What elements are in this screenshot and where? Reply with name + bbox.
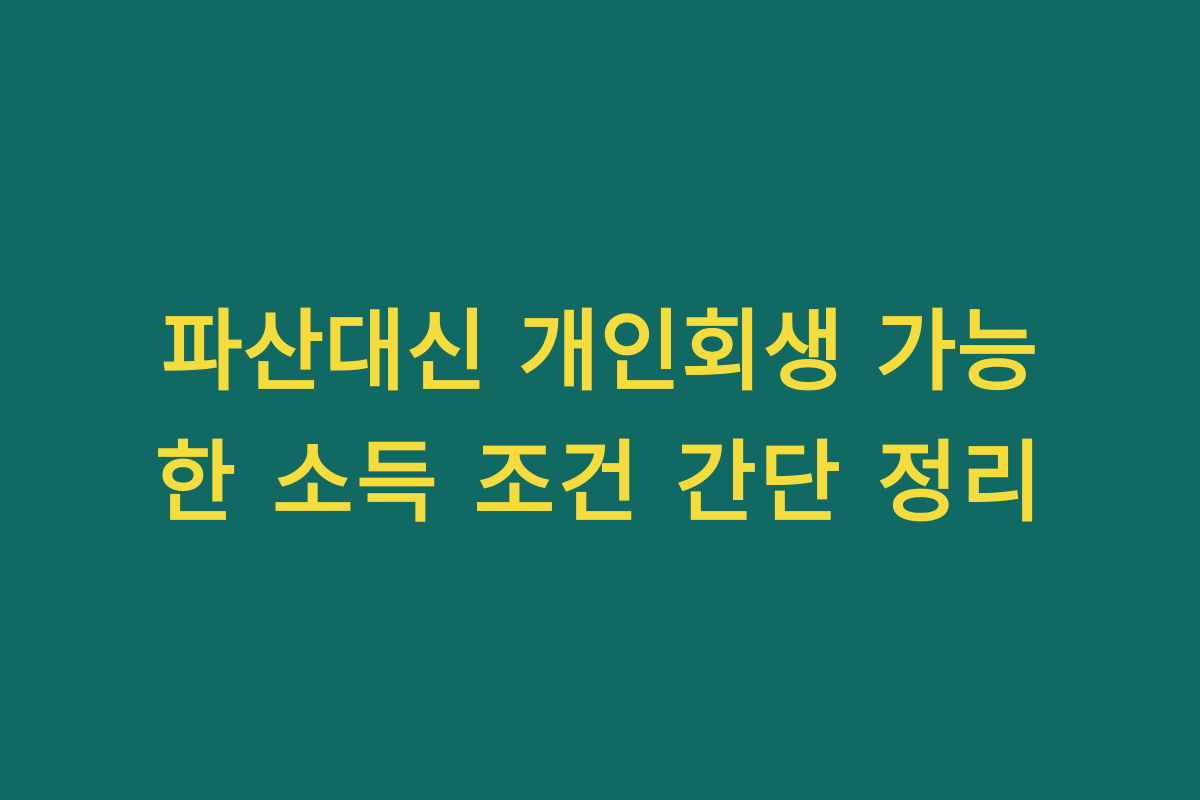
title-line-2: 한 소득 조건 간단 정리 [0, 418, 1200, 548]
title-line-1: 파산대신 개인회생 가능 [0, 286, 1200, 418]
page-title: 파산대신 개인회생 가능 한 소득 조건 간단 정리 [0, 286, 1200, 548]
banner-canvas: 파산대신 개인회생 가능 한 소득 조건 간단 정리 [0, 0, 1200, 800]
